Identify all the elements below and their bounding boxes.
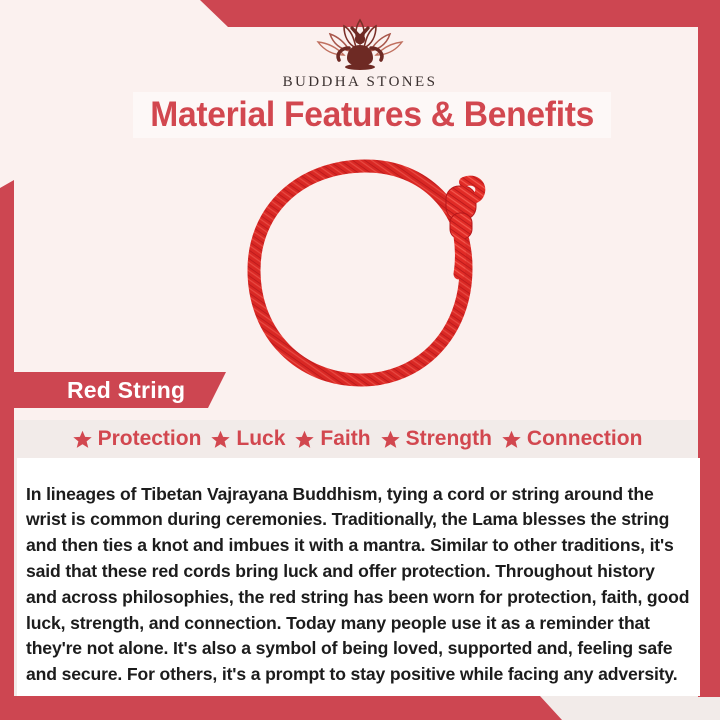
decorative-border-left-lower (0, 386, 14, 698)
product-name: Red String (67, 377, 185, 404)
star-icon (501, 429, 522, 450)
feature-label: Luck (236, 427, 285, 451)
red-braided-cord-bracelet-icon (228, 158, 498, 393)
feature-label: Faith (320, 427, 370, 451)
page-title-banner: Material Features & Benefits (133, 92, 611, 138)
description-text: In lineages of Tibetan Vajrayana Buddhis… (26, 482, 690, 688)
star-icon (380, 429, 401, 450)
feature-item-strength: Strength (380, 427, 492, 451)
feature-list: Protection Luck Faith Strength Connectio… (14, 420, 700, 458)
feature-item-faith: Faith (294, 427, 370, 451)
feature-label: Strength (406, 427, 492, 451)
page-title: Material Features & Benefits (150, 95, 594, 135)
feature-label: Protection (98, 427, 202, 451)
product-name-ribbon: Red String (14, 372, 226, 408)
star-icon (210, 429, 231, 450)
decorative-border-left-upper (0, 180, 14, 390)
star-icon (294, 429, 315, 450)
product-image (228, 158, 498, 393)
decorative-border-right (698, 0, 720, 697)
feature-item-protection: Protection (72, 427, 202, 451)
infographic-card: BUDDHA STONES Material Features & Benefi… (0, 0, 720, 720)
brand-logo: BUDDHA STONES (0, 14, 720, 91)
brand-name: BUDDHA STONES (283, 74, 438, 91)
star-icon (72, 429, 93, 450)
lotus-meditation-icon (300, 14, 420, 72)
feature-label: Connection (527, 427, 643, 451)
feature-item-connection: Connection (501, 427, 643, 451)
description-panel: In lineages of Tibetan Vajrayana Buddhis… (17, 458, 700, 696)
feature-item-luck: Luck (210, 427, 285, 451)
